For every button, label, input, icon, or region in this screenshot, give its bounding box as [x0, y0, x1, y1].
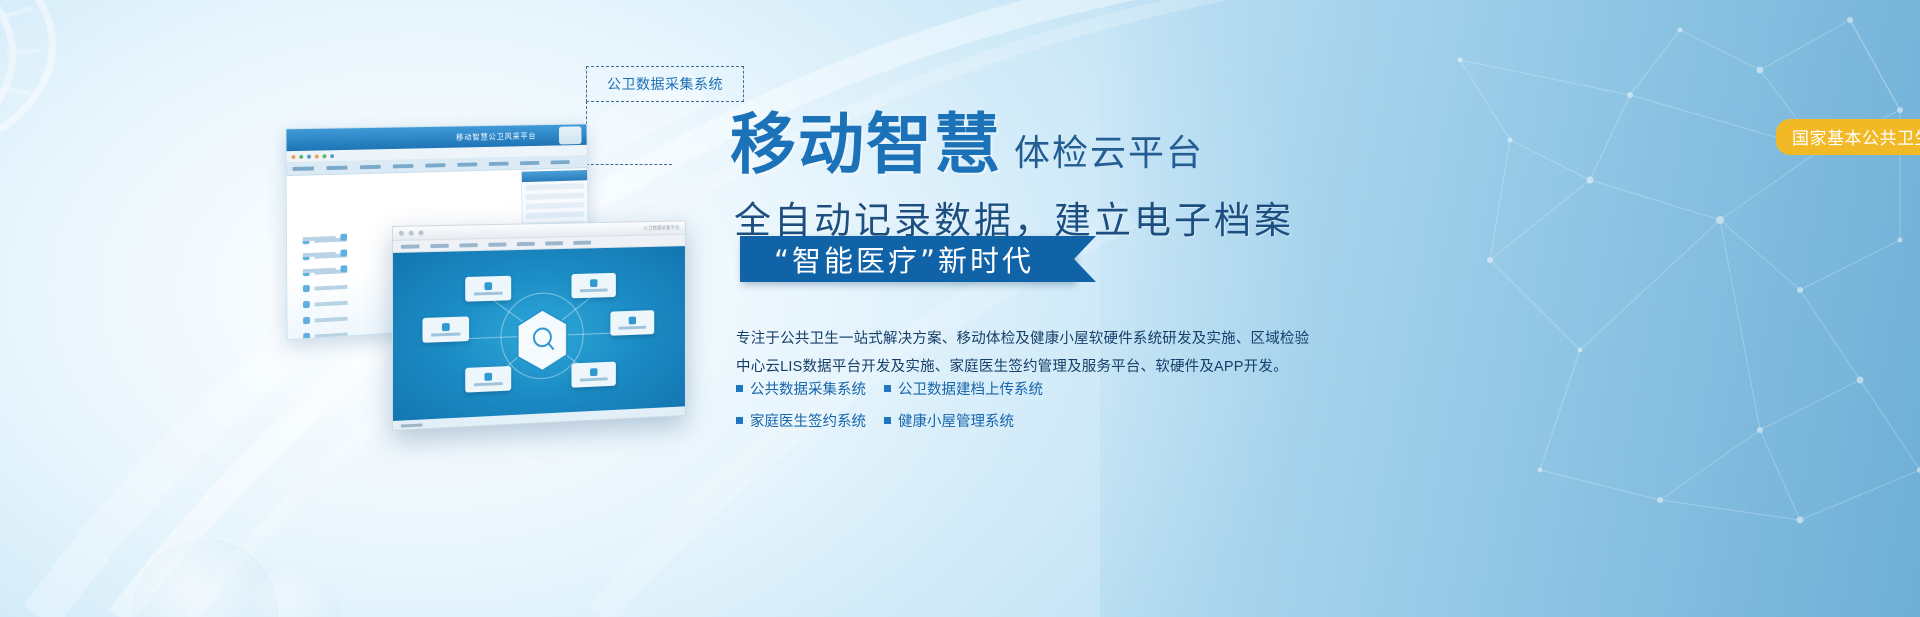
ribbon-banner: “智能医疗”新时代 [740, 236, 1074, 282]
bullet-square-icon [884, 385, 891, 392]
callout-leader-horizontal [586, 164, 672, 165]
back-window-avatar [559, 126, 582, 144]
list-item-label: 家庭医生签约系统 [750, 410, 866, 431]
dashboard-node [571, 273, 615, 299]
ribbon-text: “智能医疗”新时代 [774, 238, 1034, 280]
dashboard-node [465, 366, 511, 393]
screenshot-front-window: 公卫数据采集平台 [392, 220, 686, 431]
dashboard-node [422, 316, 469, 342]
dashboard-node [571, 362, 615, 388]
callout-box: 公卫数据采集系统 [586, 66, 744, 102]
bullet-square-icon [736, 417, 743, 424]
callout-label: 公卫数据采集系统 [607, 74, 723, 94]
dna-helix-icon [0, 0, 190, 200]
headline-row: 移动智慧 体检云平台 [730, 112, 1204, 178]
feature-list: 公共数据采集系统 公卫数据建档上传系统 家庭医生签约系统 健康小屋管理系统 [736, 378, 1066, 431]
dashboard-hex-core [514, 307, 570, 374]
list-item-label: 公卫数据建档上传系统 [898, 378, 1043, 399]
banner-content: 移动智慧 体检云平台 国家基本公共卫生3.0 全自动记录数据，建立电子档案 “智… [730, 0, 1920, 617]
front-window-dashboard [393, 246, 685, 431]
headline-sub: 体检云平台 [1014, 134, 1204, 178]
hexagon-icon [514, 307, 570, 374]
list-item: 家庭医生签约系统 [736, 410, 884, 431]
status-badge: 国家基本公共卫生3.0 [1776, 119, 1920, 155]
list-item-label: 健康小屋管理系统 [898, 410, 1014, 431]
list-item: 健康小屋管理系统 [884, 410, 1064, 431]
dashboard-node [465, 276, 511, 302]
list-item-label: 公共数据采集系统 [750, 378, 866, 399]
dashboard-node [610, 310, 654, 336]
back-window-title: 移动智慧公卫风采平台 [456, 130, 536, 142]
bullet-square-icon [736, 385, 743, 392]
headline-main: 移动智慧 [730, 112, 1002, 178]
ribbon-tail [1074, 236, 1096, 282]
front-window-label: 公卫数据采集平台 [643, 224, 679, 231]
description-paragraph: 专注于公共卫生一站式解决方案、移动体检及健康小屋软硬件系统研发及实施、区域检验中… [736, 325, 1311, 381]
list-item: 公卫数据建档上传系统 [884, 378, 1064, 399]
banner-stage: 公卫数据采集系统 移动智慧公卫风采平台 [0, 0, 1920, 617]
bullet-square-icon [884, 417, 891, 424]
list-item: 公共数据采集系统 [736, 378, 884, 399]
